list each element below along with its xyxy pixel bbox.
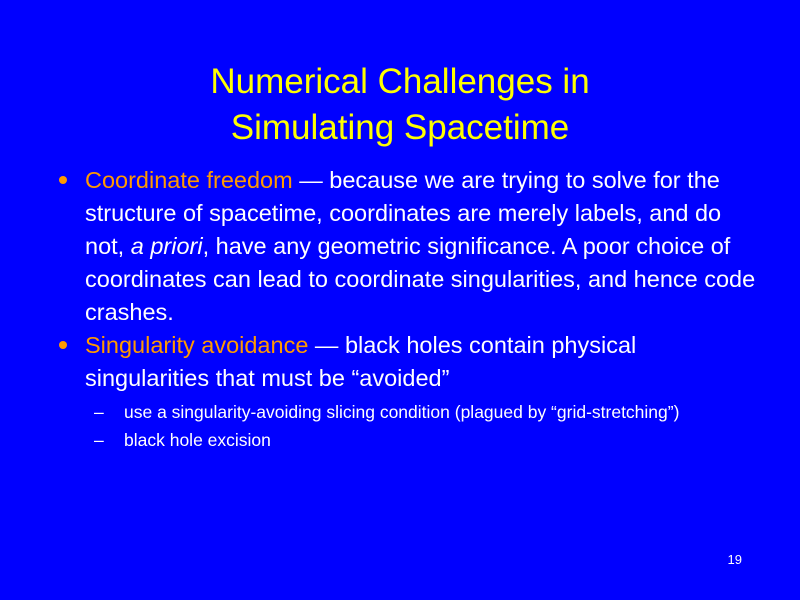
sub-bullet-label: use a singularity-avoiding slicing condi…	[124, 402, 679, 422]
slide-title: Numerical Challenges in Simulating Space…	[60, 59, 740, 151]
bullet-item: Singularity avoidance — black holes cont…	[46, 329, 758, 395]
dash-icon: –	[94, 398, 104, 426]
sub-bullet-item: – use a singularity-avoiding slicing con…	[46, 398, 758, 426]
bullet-dot-icon	[59, 176, 67, 184]
slide-body: Coordinate freedom — because we are tryi…	[46, 164, 758, 454]
dash-icon: –	[94, 426, 104, 454]
page-number: 19	[728, 552, 742, 568]
bullet-dot-icon	[59, 341, 67, 349]
sub-bullet-item: – black hole excision	[46, 426, 758, 454]
bullet-lead-term: Coordinate freedom	[85, 167, 293, 193]
bullet-item: Coordinate freedom — because we are tryi…	[46, 164, 758, 329]
bullet-lead-term: Singularity avoidance	[85, 332, 308, 358]
bullet-italic-phrase: a priori	[131, 233, 203, 259]
sub-bullet-list: – use a singularity-avoiding slicing con…	[46, 398, 758, 454]
presentation-slide: Numerical Challenges in Simulating Space…	[0, 0, 800, 600]
sub-bullet-label: black hole excision	[124, 430, 271, 450]
